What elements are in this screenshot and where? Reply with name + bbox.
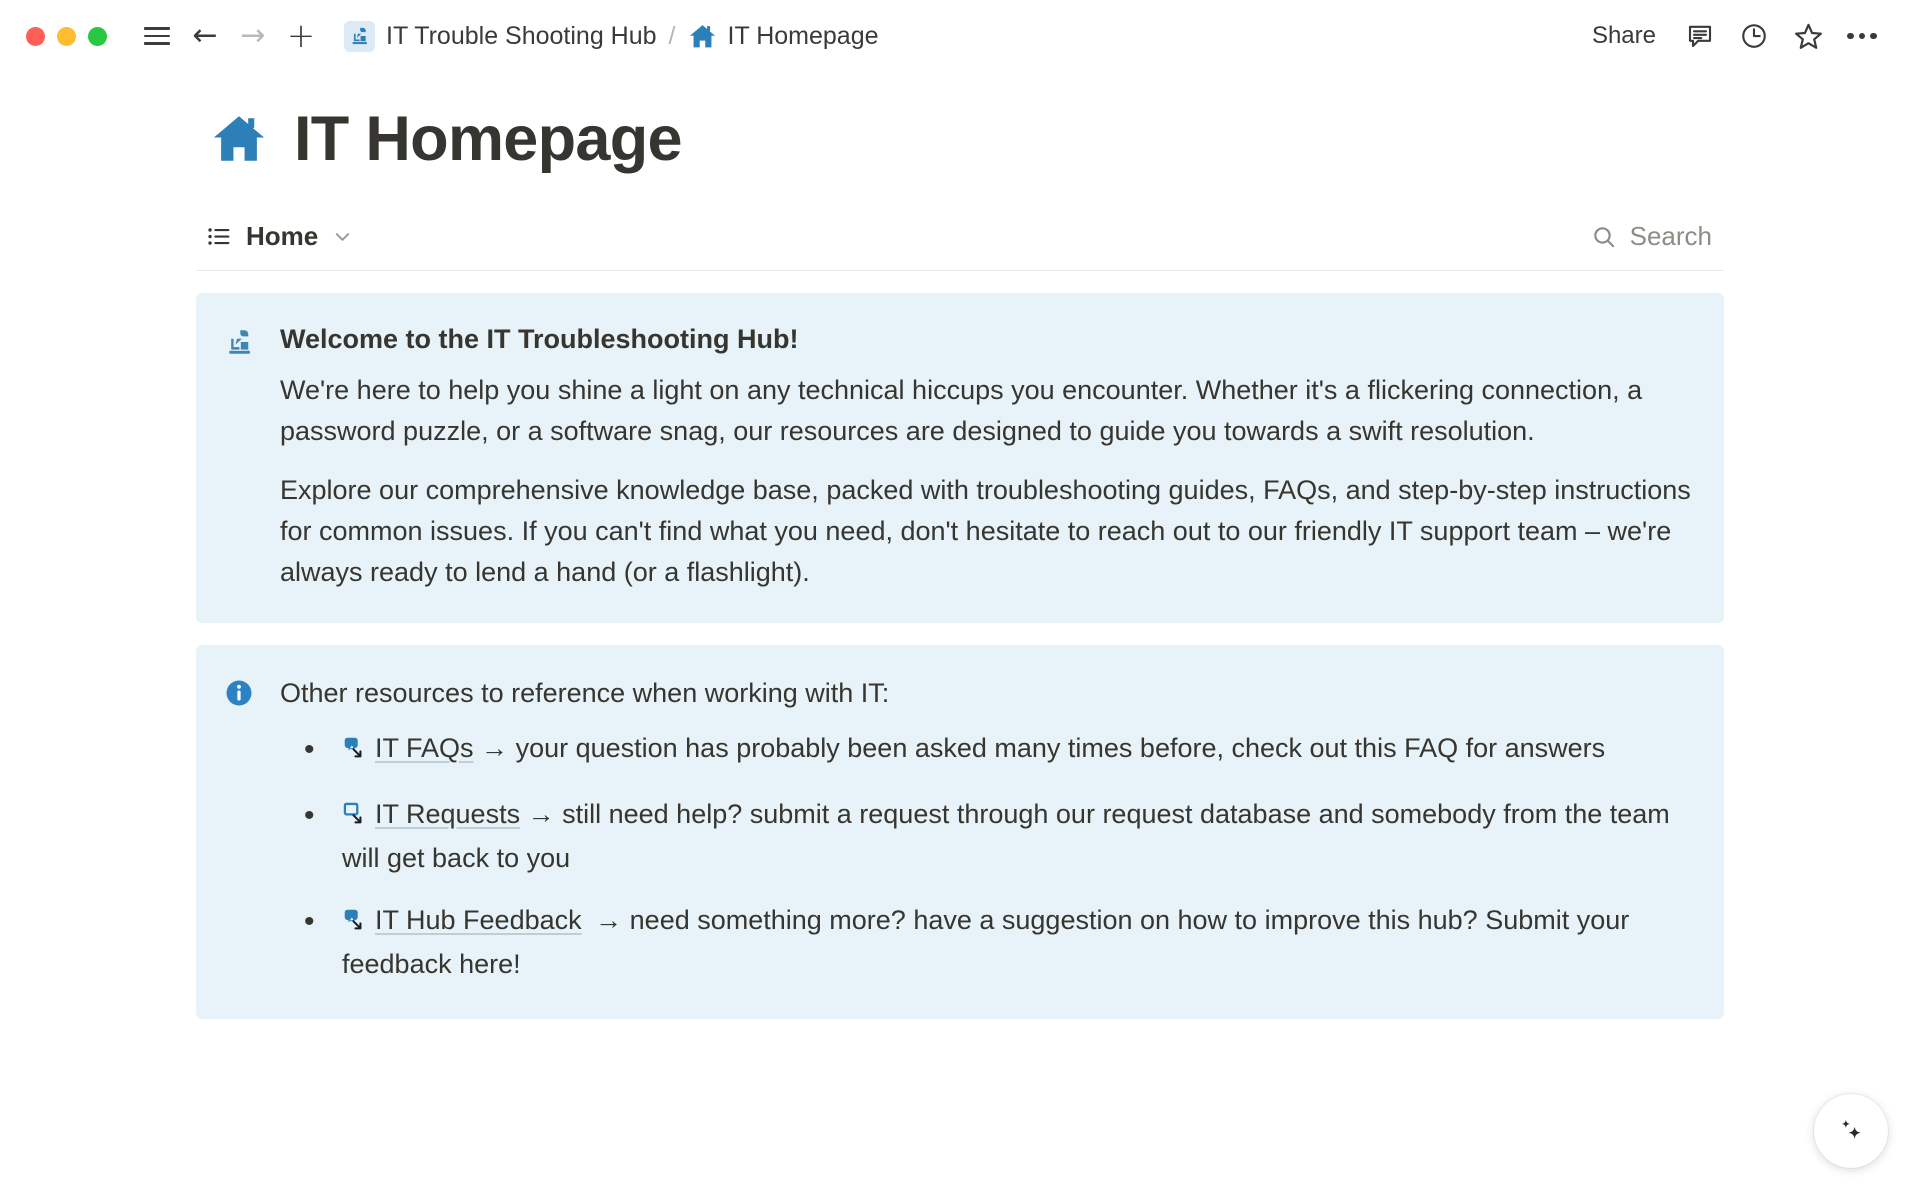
tab-home-label: Home (246, 221, 318, 252)
search-icon (1591, 224, 1617, 250)
window-minimize-button[interactable] (57, 27, 76, 46)
page-link-icon (342, 905, 368, 945)
history-button[interactable] (1730, 12, 1778, 60)
page-title: IT Homepage (294, 106, 682, 172)
breadcrumb-item-parent[interactable]: IT Trouble Shooting Hub (335, 16, 666, 57)
breadcrumb-separator: / (666, 22, 679, 51)
page-content: IT Homepage Home (0, 72, 1920, 1019)
comment-icon (1685, 21, 1715, 51)
list-item: IT Requests → still need help? submit a … (280, 795, 1692, 879)
clock-history-icon (1739, 21, 1769, 51)
chevron-down-icon[interactable] (331, 225, 354, 248)
share-button[interactable]: Share (1578, 14, 1670, 58)
breadcrumb: IT Trouble Shooting Hub / IT Homepage (335, 16, 888, 57)
page-header: IT Homepage (0, 72, 1920, 172)
sidebar-toggle-button[interactable] (133, 12, 181, 60)
star-icon (1793, 21, 1824, 52)
callout-welcome-body: Welcome to the IT Troubleshooting Hub! W… (280, 321, 1692, 593)
new-page-button[interactable]: + (277, 12, 325, 60)
plus-icon: + (287, 19, 316, 53)
back-button[interactable]: ← (181, 12, 229, 60)
resource-list: IT FAQs → your question has probably bee… (280, 729, 1692, 985)
link-it-faqs[interactable]: IT FAQs (375, 733, 474, 763)
person-at-desk-icon (344, 21, 375, 52)
callout-welcome-paragraph-2: Explore our comprehensive knowledge base… (280, 470, 1692, 593)
link-it-requests[interactable]: IT Requests (375, 799, 520, 829)
tab-home[interactable]: Home (196, 216, 364, 257)
ai-assistant-button[interactable] (1814, 1094, 1888, 1168)
search-button[interactable]: Search (1579, 216, 1724, 257)
breadcrumb-parent-label: IT Trouble Shooting Hub (386, 22, 657, 51)
list-view-icon (206, 223, 233, 250)
database-link-icon (342, 799, 368, 839)
callout-welcome: Welcome to the IT Troubleshooting Hub! W… (196, 293, 1724, 623)
house-icon (688, 22, 717, 51)
breadcrumb-item-current[interactable]: IT Homepage (679, 17, 888, 56)
arrow-glyph: → (481, 733, 508, 763)
house-icon[interactable] (210, 110, 268, 168)
callout-welcome-paragraph-1: We're here to help you shine a light on … (280, 370, 1692, 452)
more-options-button[interactable] (1838, 12, 1886, 60)
traffic-light-group (26, 27, 107, 46)
list-item-text: your question has probably been asked ma… (516, 733, 1606, 763)
hamburger-icon (144, 27, 170, 45)
window-maximize-button[interactable] (88, 27, 107, 46)
comments-button[interactable] (1676, 12, 1724, 60)
link-it-hub-feedback[interactable]: IT Hub Feedback (375, 905, 582, 935)
callout-resources: Other resources to reference when workin… (196, 645, 1724, 1019)
titlebar-actions: Share (1578, 12, 1886, 60)
ellipsis-icon (1847, 33, 1877, 40)
search-label: Search (1630, 221, 1712, 252)
forward-button[interactable]: → (229, 12, 277, 60)
person-at-desk-icon (224, 321, 258, 593)
ai-sparkle-icon (1833, 1113, 1869, 1149)
view-bar: Home Search (196, 216, 1724, 271)
list-item: IT Hub Feedback → need something more? h… (280, 901, 1692, 985)
page-link-icon (342, 733, 368, 773)
arrow-glyph: → (595, 905, 622, 935)
callout-welcome-heading: Welcome to the IT Troubleshooting Hub! (280, 321, 1692, 357)
list-item: IT FAQs → your question has probably bee… (280, 729, 1692, 773)
arrow-glyph: → (528, 799, 555, 829)
callout-resources-body: Other resources to reference when workin… (280, 673, 1692, 985)
window-close-button[interactable] (26, 27, 45, 46)
info-circle-icon (224, 673, 258, 985)
breadcrumb-current-label: IT Homepage (728, 22, 879, 51)
arrow-left-icon: ← (192, 21, 217, 51)
favorite-button[interactable] (1784, 12, 1832, 60)
nav-icon-group: ← → + (133, 12, 325, 60)
window-titlebar: ← → + IT Trouble Shooting Hub / (0, 0, 1920, 72)
arrow-right-icon: → (240, 21, 265, 51)
callout-resources-lead: Other resources to reference when workin… (280, 673, 1692, 714)
